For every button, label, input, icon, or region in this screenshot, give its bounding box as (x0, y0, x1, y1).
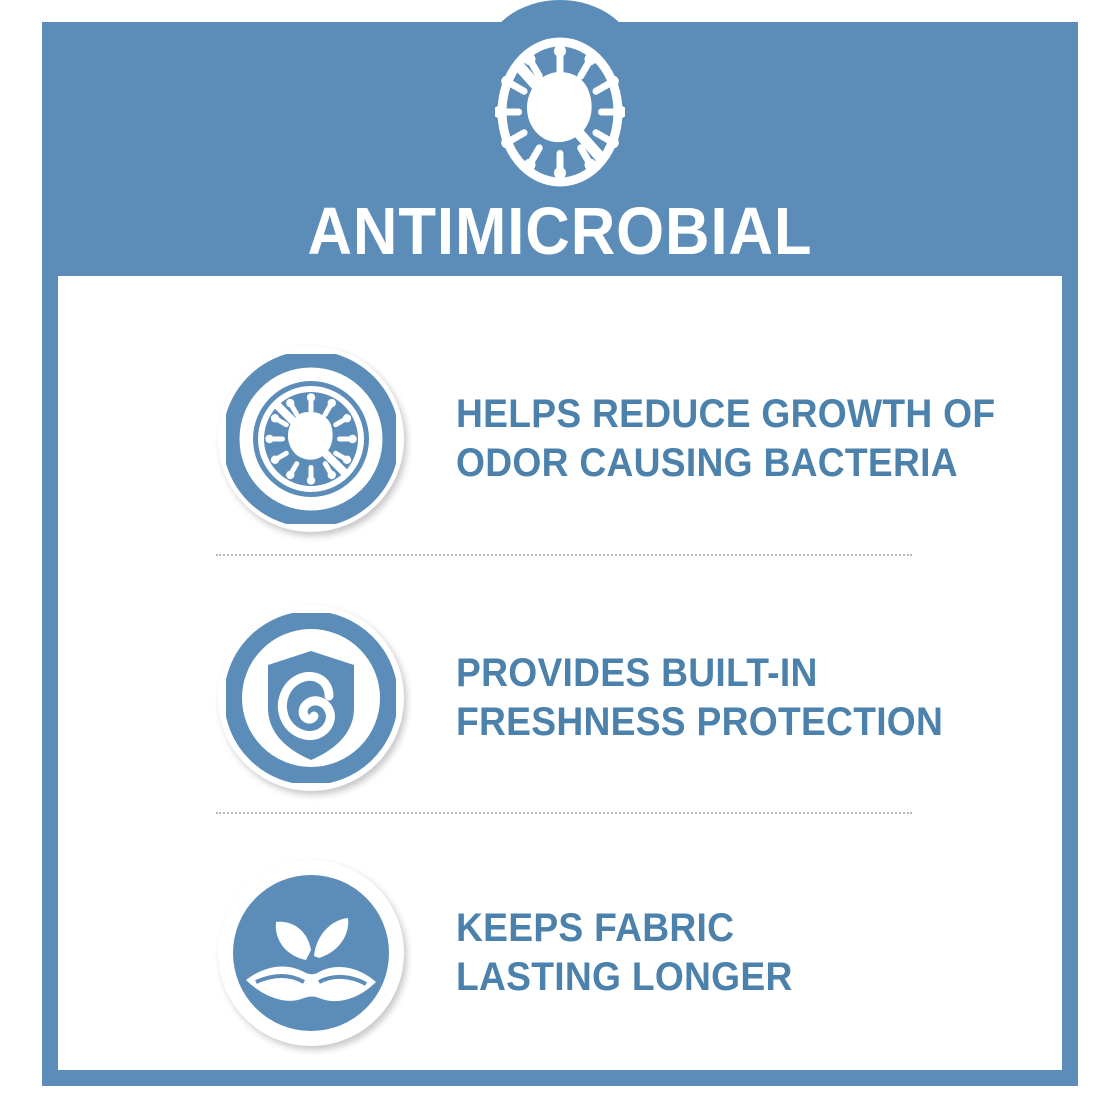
no-virus-badge-icon (218, 346, 404, 532)
feature-panel: HELPS REDUCE GROWTH OF ODOR CAUSING BACT… (58, 276, 1062, 1070)
feature-icon-wrap (216, 346, 406, 532)
list-item: KEEPS FABRIC LASTING LONGER (58, 838, 1062, 1068)
shield-swirl-badge-icon (218, 605, 404, 791)
feature-text: HELPS REDUCE GROWTH OF ODOR CAUSING BACT… (456, 390, 995, 488)
feature-line-2: ODOR CAUSING BACTERIA (456, 439, 995, 488)
feature-text: KEEPS FABRIC LASTING LONGER (456, 904, 793, 1002)
divider (216, 554, 912, 556)
feature-line-1: KEEPS FABRIC (456, 904, 793, 953)
divider (216, 812, 912, 814)
feature-line-2: FRESHNESS PROTECTION (456, 698, 943, 747)
sprout-fabric-badge-icon (218, 860, 404, 1046)
no-virus-icon (495, 36, 625, 188)
feature-icon-wrap (216, 860, 406, 1046)
feature-list: HELPS REDUCE GROWTH OF ODOR CAUSING BACT… (58, 276, 1062, 1070)
antimicrobial-infographic: ANTIMICROBIAL (0, 0, 1120, 1120)
feature-line-1: HELPS REDUCE GROWTH OF (456, 390, 995, 439)
list-item: PROVIDES BUILT-IN FRESHNESS PROTECTION (58, 583, 1062, 813)
feature-text: PROVIDES BUILT-IN FRESHNESS PROTECTION (456, 649, 943, 747)
page-title: ANTIMICROBIAL (83, 198, 1036, 265)
header-banner: ANTIMICROBIAL (42, 22, 1078, 276)
list-item: HELPS REDUCE GROWTH OF ODOR CAUSING BACT… (58, 324, 1062, 554)
feature-line-1: PROVIDES BUILT-IN (456, 649, 943, 698)
feature-line-2: LASTING LONGER (456, 953, 793, 1002)
feature-icon-wrap (216, 605, 406, 791)
